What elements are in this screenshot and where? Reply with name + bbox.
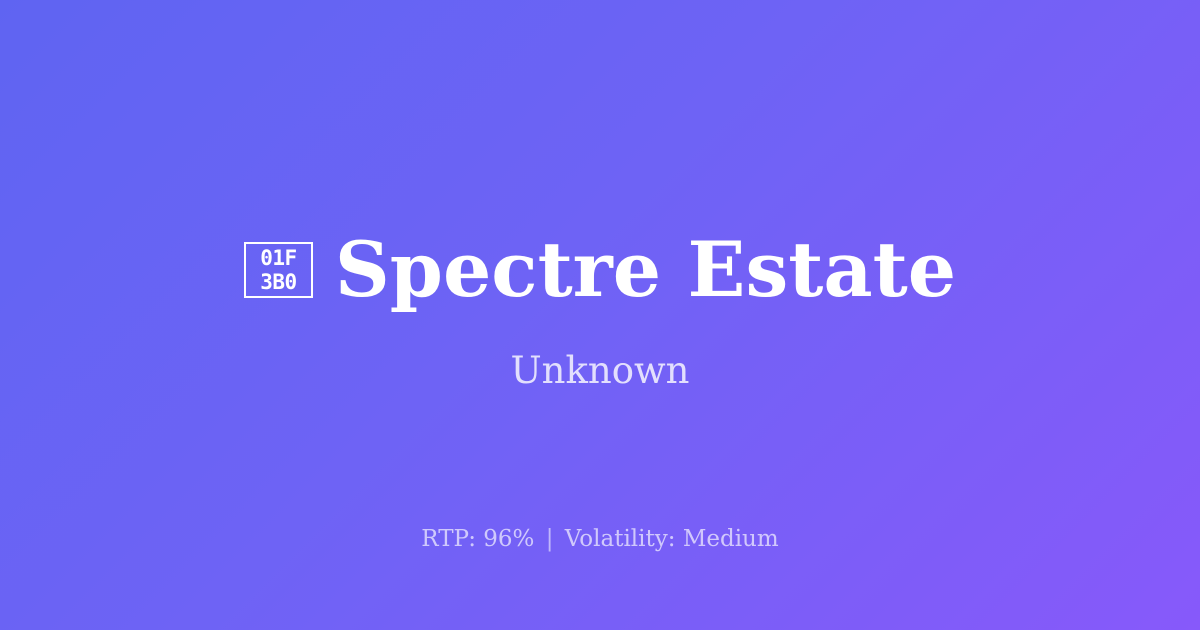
hero-block: 01F 3B0 Spectre Estate Unknown <box>0 232 1200 389</box>
slot-machine-emoji-icon: 01F 3B0 <box>244 242 313 298</box>
meta-volatility-label: Volatility: <box>565 526 676 552</box>
game-meta-line: RTP: 96% | Volatility: Medium <box>0 528 1200 551</box>
meta-separator: | <box>542 526 558 552</box>
game-subtitle: Unknown <box>510 352 689 389</box>
title-row: 01F 3B0 Spectre Estate <box>244 232 956 308</box>
game-title: Spectre Estate <box>335 232 956 308</box>
tofu-codepoint-line-1: 01F <box>260 246 296 270</box>
meta-rtp-label: RTP: <box>421 526 476 552</box>
tofu-codepoint-line-2: 3B0 <box>260 270 296 294</box>
meta-rtp-value: 96% <box>483 526 534 552</box>
meta-volatility-value: Medium <box>683 526 779 552</box>
og-card: 01F 3B0 Spectre Estate Unknown RTP: 96% … <box>0 0 1200 630</box>
